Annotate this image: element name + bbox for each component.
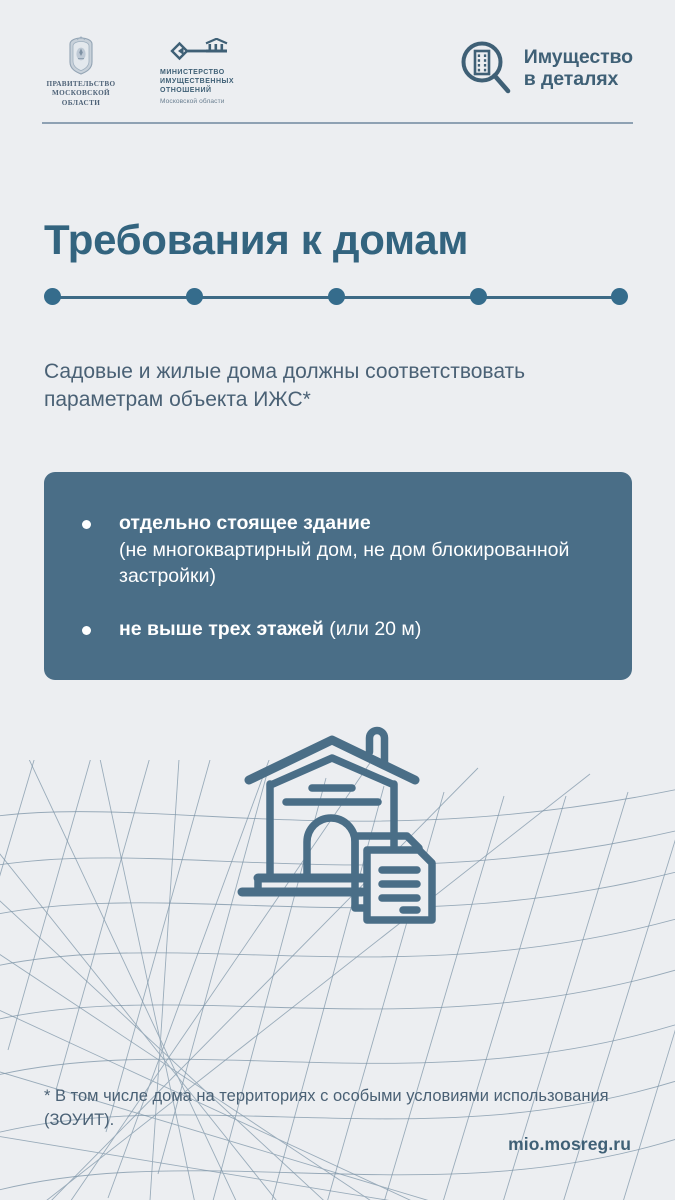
ministry-logo: Министерство имущественных отношений Мос… [160,38,280,106]
bullet-text-2: не выше трех этажей (или 20 м) [119,616,421,643]
gov-logo-line-1: Правительство [42,80,120,89]
subtitle: Садовые и жилые дома должны соответствов… [44,358,644,414]
step-dot-3[interactable] [328,288,345,305]
bullet-1-strong: отдельно стоящее здание [119,512,371,534]
magnifier-building-icon [458,40,512,96]
gov-logo-line-3: области [42,99,120,108]
ministry-logo-line-1: Министерство [160,69,280,78]
ministry-logo-line-3: отношений [160,87,280,96]
requirements-card: отдельно стоящее здание (не многоквартир… [44,472,632,680]
list-item: не выше трех этажей (или 20 м) [68,616,598,643]
bullet-1-normal: (не многоквартирный дом, не дом блокиров… [119,539,569,588]
gov-logo-line-2: Московской [42,89,120,98]
page-title: Требования к домам [44,216,468,264]
step-dot-2[interactable] [186,288,203,305]
step-dot-4[interactable] [470,288,487,305]
ministry-logo-region: Московской области [160,97,280,106]
bullet-2-normal: (или 20 м) [329,618,421,640]
website-url[interactable]: mio.mosreg.ru [508,1134,631,1155]
bullet-text-1: отдельно стоящее здание (не многоквартир… [119,510,598,590]
step-progress-indicator [44,288,628,306]
brand-line-2: в деталях [524,68,633,91]
bullet-dot-icon [82,626,91,635]
list-item: отдельно стоящее здание (не многоквартир… [68,510,598,590]
header-divider [42,122,633,124]
bullet-dot-icon [82,520,91,529]
house-with-documents-icon [236,726,446,926]
footnote-text: * В том числе дома на территориях с особ… [44,1084,614,1132]
infographic-page: Правительство Московской области Министе… [0,0,675,1200]
bullet-2-strong: не выше трех этажей [119,618,324,640]
moscow-region-coat-of-arms [66,36,96,76]
brand-text: Имущество в деталях [524,46,633,91]
key-and-building-mark [160,38,234,64]
step-dot-5[interactable] [611,288,628,305]
brand-line-1: Имущество [524,46,633,69]
header: Правительство Московской области Министе… [0,0,675,124]
brand-logo: Имущество в деталях [458,40,633,96]
ministry-logo-line-2: имущественных [160,78,280,87]
step-dot-1[interactable] [44,288,61,305]
government-logo: Правительство Московской области [42,36,120,108]
